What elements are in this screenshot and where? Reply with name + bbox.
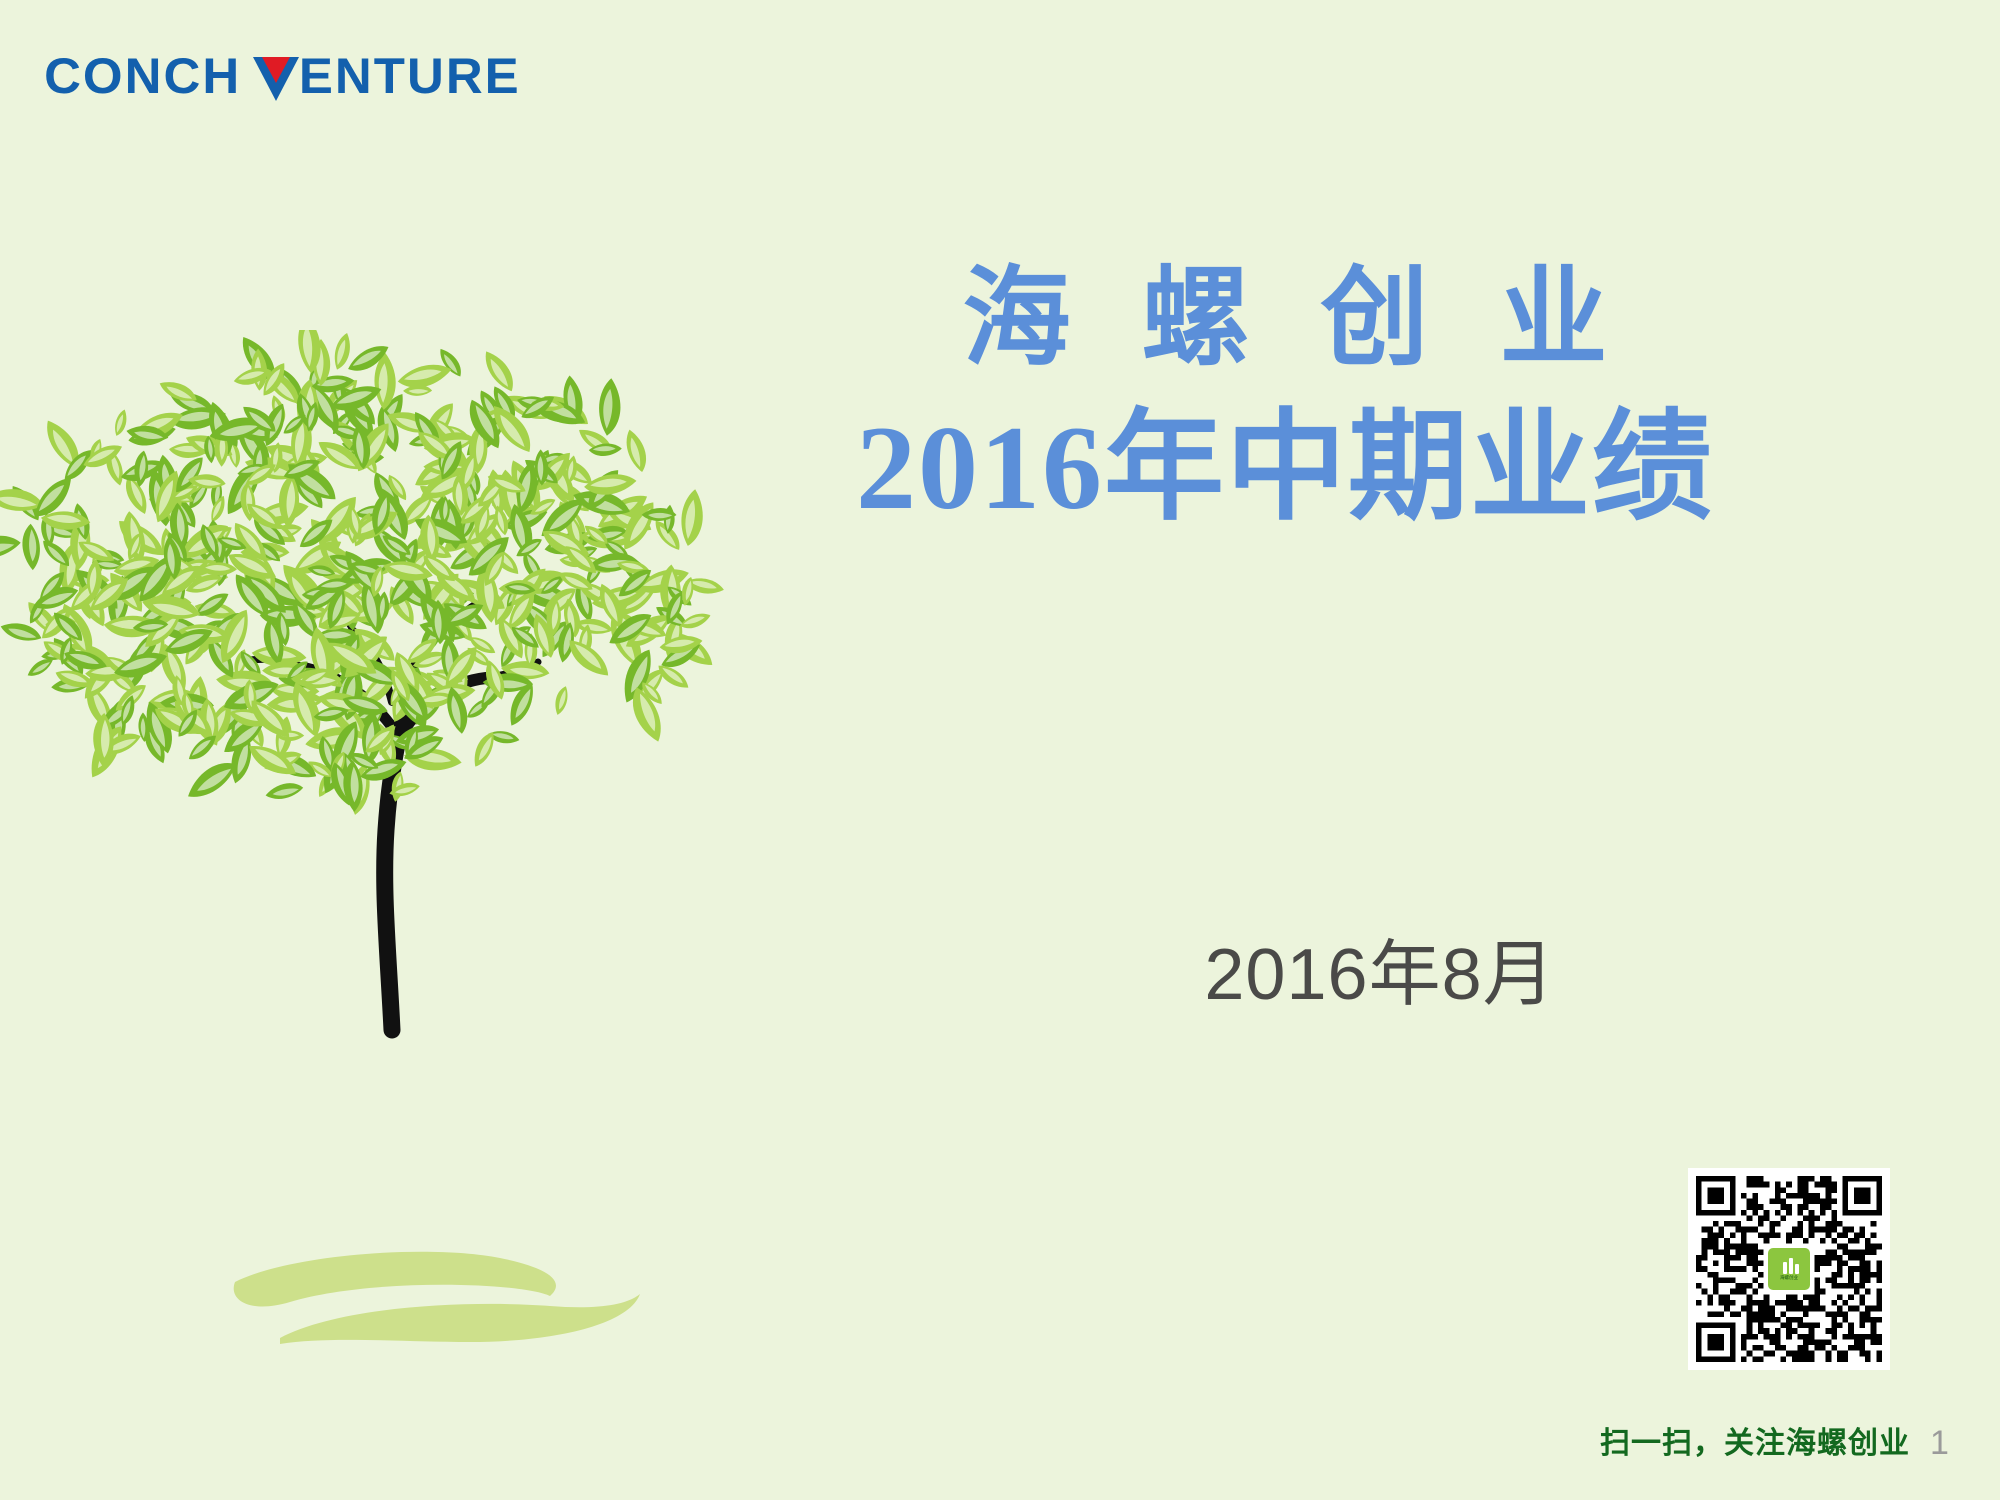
presentation-date: 2016年8月	[960, 915, 1800, 1020]
title-block: 海 螺 创 业 2016年中期业绩	[640, 255, 1930, 543]
tree-illustration	[0, 330, 740, 1110]
v-triangle-icon	[253, 53, 299, 99]
title-line-2: 2016年中期业绩	[640, 393, 1930, 543]
qr-logo-label: 海螺创业	[1780, 1275, 1798, 1280]
logo-text-venture: ENTURE	[299, 48, 521, 104]
logo-text-conch: CONCH	[44, 48, 241, 104]
title-line-1: 海 螺 创 业	[640, 255, 1930, 385]
ground-strokes	[220, 1220, 640, 1400]
mountain-icon	[1774, 1258, 1804, 1274]
slide-canvas: CONCH ENTURE	[0, 0, 2000, 1500]
conch-venture-logo: CONCH ENTURE	[46, 48, 519, 104]
qr-code[interactable]: 海螺创业	[1688, 1168, 1890, 1370]
tree-canopy	[0, 330, 725, 817]
qr-center-logo: 海螺创业	[1766, 1246, 1812, 1292]
page-number: 1	[1930, 1424, 1949, 1463]
qr-caption: 扫一扫，关注海螺创业	[1270, 1418, 1910, 1462]
